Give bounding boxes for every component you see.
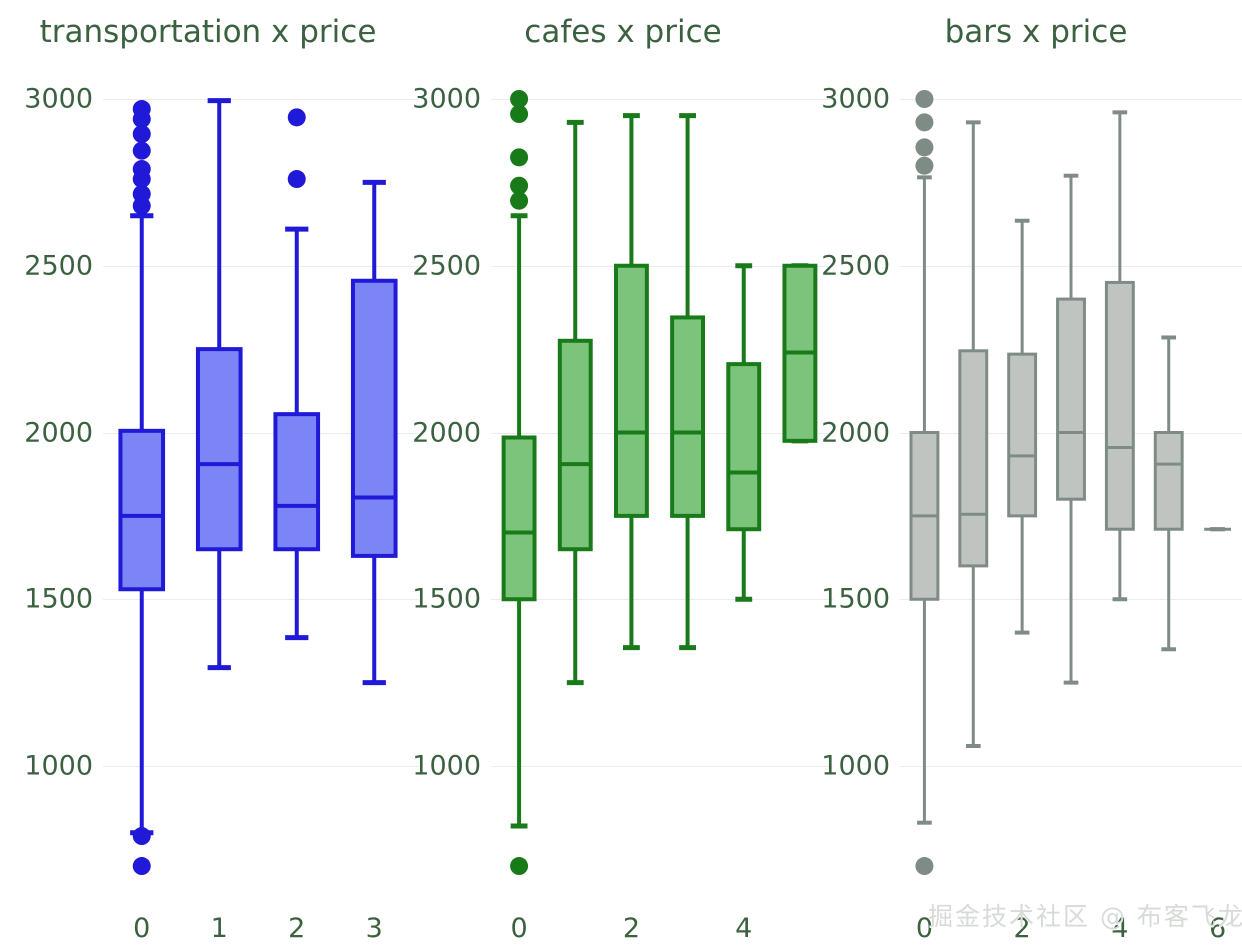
outlier-point [510,192,528,210]
box-2 [1009,221,1036,633]
box-body [960,351,987,566]
outlier-point [133,827,151,845]
box-body [728,364,759,529]
box-5 [784,266,815,441]
box-0 [911,90,938,875]
panel-0: transportation x price100015002000250030… [0,0,416,948]
boxplot-series [830,0,1242,948]
outlier-point [510,148,528,166]
outlier-point [510,105,528,123]
boxplot-series [0,0,416,948]
box-5 [1155,337,1182,649]
box-1 [960,122,987,746]
box-3 [672,116,703,648]
box-body [275,414,318,549]
box-body [1009,354,1036,516]
box-3 [1058,176,1085,683]
box-2 [275,108,318,637]
box-4 [1106,112,1133,599]
outlier-point [915,138,933,156]
outlier-point [133,857,151,875]
box-body [198,349,241,549]
outlier-point [133,142,151,160]
box-2 [616,116,647,648]
panel-2: bars x price100015002000250030000246 [830,0,1242,948]
outlier-point [133,125,151,143]
outlier-point [288,170,306,188]
box-body [120,431,163,589]
outlier-point [915,857,933,875]
box-0 [504,90,535,875]
outlier-point [915,90,933,108]
box-body [1058,299,1085,499]
box-1 [198,101,241,668]
outlier-point [510,857,528,875]
box-body [616,266,647,516]
box-4 [728,266,759,600]
box-body [1155,433,1182,530]
box-0 [120,100,163,875]
box-body [1106,282,1133,529]
outlier-point [915,157,933,175]
box-body [353,281,396,556]
outlier-point [133,197,151,215]
box-body [560,341,591,549]
panel-1: cafes x price10001500200025003000024 [416,0,830,948]
box-body [672,317,703,515]
figure-canvas: transportation x price100015002000250030… [0,0,1242,948]
box-body [504,438,535,600]
outlier-point [288,108,306,126]
box-3 [353,182,396,682]
outlier-point [915,113,933,131]
boxplot-series [416,0,830,948]
box-1 [560,122,591,682]
